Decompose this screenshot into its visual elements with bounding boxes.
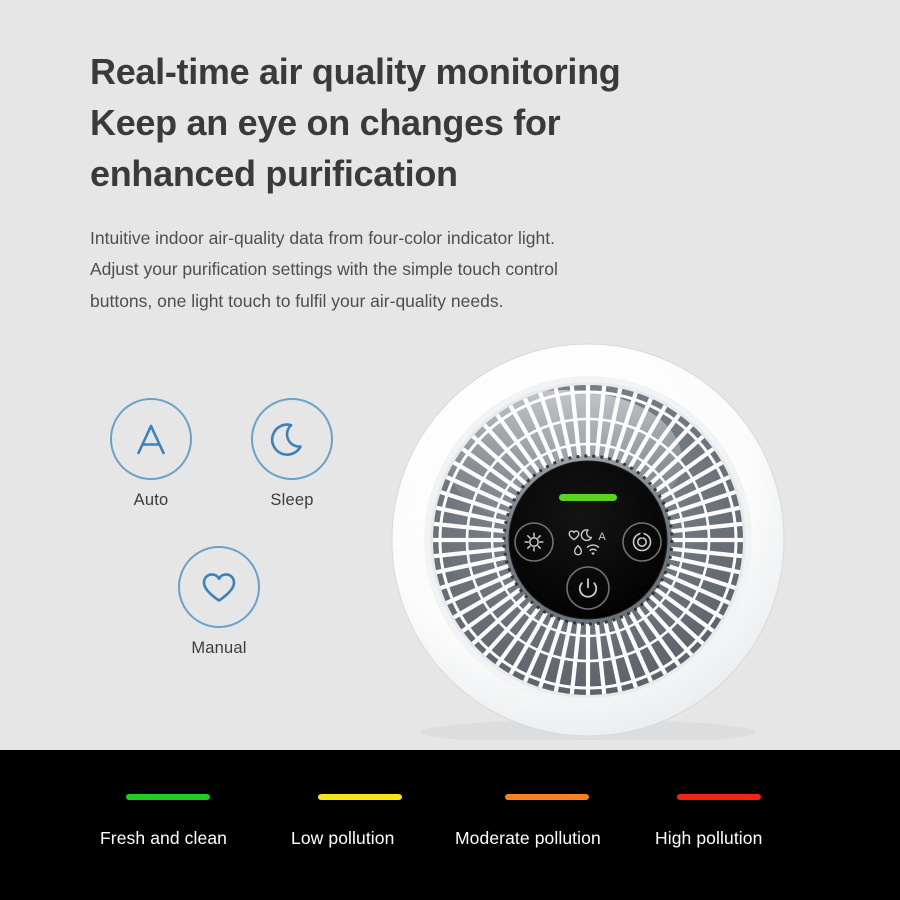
legend-item-low-pollution: Low pollution <box>291 794 402 849</box>
purifier-graphic: A <box>388 340 788 740</box>
legend-color-bar-green <box>126 794 210 800</box>
product-feature-page: Real-time air quality monitoring Keep an… <box>0 0 900 900</box>
legend-item-high-pollution: High pollution <box>655 794 762 849</box>
mode-item-manual[interactable]: Manual <box>164 546 274 658</box>
mode-item-auto[interactable]: Auto <box>96 398 206 510</box>
legend-label-0: Fresh and clean <box>100 828 227 849</box>
legend-label-2: Moderate pollution <box>455 828 601 849</box>
legend-color-bar-orange <box>505 794 589 800</box>
legend-color-bar-red <box>677 794 761 800</box>
mode-item-sleep[interactable]: Sleep <box>237 398 347 510</box>
heart-icon <box>193 561 245 613</box>
crescent-moon-icon <box>266 413 318 465</box>
legend-item-moderate-pollution: Moderate pollution <box>455 794 601 849</box>
mode-icon-group: Auto Sleep Manual <box>0 0 380 400</box>
air-purifier-device: A <box>388 340 788 740</box>
mode-circle-manual[interactable] <box>178 546 260 628</box>
mode-circle-sleep[interactable] <box>251 398 333 480</box>
mode-circle-auto[interactable] <box>110 398 192 480</box>
legend-color-bar-yellow <box>318 794 402 800</box>
legend-items: Fresh and clean Low pollution Moderate p… <box>0 750 900 900</box>
mode-label-manual: Manual <box>164 639 274 658</box>
legend-label-3: High pollution <box>655 828 762 849</box>
legend-item-fresh-and-clean: Fresh and clean <box>100 794 227 849</box>
legend-label-1: Low pollution <box>291 828 402 849</box>
mode-label-auto: Auto <box>96 491 206 510</box>
air-quality-legend-strip: Fresh and clean Low pollution Moderate p… <box>0 750 900 900</box>
letter-a-icon <box>125 413 177 465</box>
letter-a-icon: A <box>598 531 606 543</box>
air-quality-indicator-bar <box>559 494 617 501</box>
mode-label-sleep: Sleep <box>237 491 347 510</box>
